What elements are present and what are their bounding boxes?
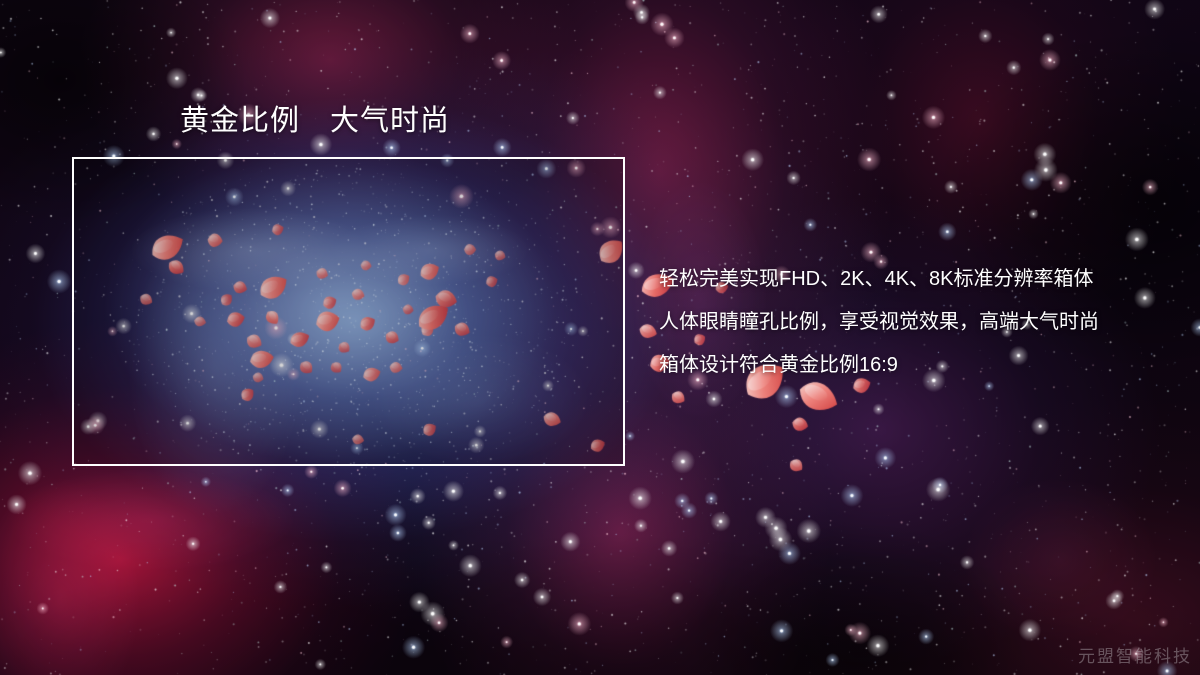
watermark: 元盟智能科技 [1078, 642, 1192, 667]
presentation-slide: 黄金比例 大气时尚 轻松完美实现FHD、2K、4K、8K标准分辨率箱体 人体眼睛… [0, 0, 1200, 675]
media-frame[interactable] [72, 157, 625, 466]
page-title: 黄金比例 大气时尚 [180, 103, 450, 139]
body-line-3: 箱体设计符合黄金比例16:9 [659, 344, 1179, 387]
body-text-block: 轻松完美实现FHD、2K、4K、8K标准分辨率箱体 人体眼睛瞳孔比例，享受视觉效… [659, 258, 1179, 387]
body-line-1: 轻松完美实现FHD、2K、4K、8K标准分辨率箱体 [659, 258, 1179, 301]
body-line-2: 人体眼睛瞳孔比例，享受视觉效果，高端大气时尚 [659, 301, 1179, 344]
media-frame-overlay [74, 159, 623, 464]
